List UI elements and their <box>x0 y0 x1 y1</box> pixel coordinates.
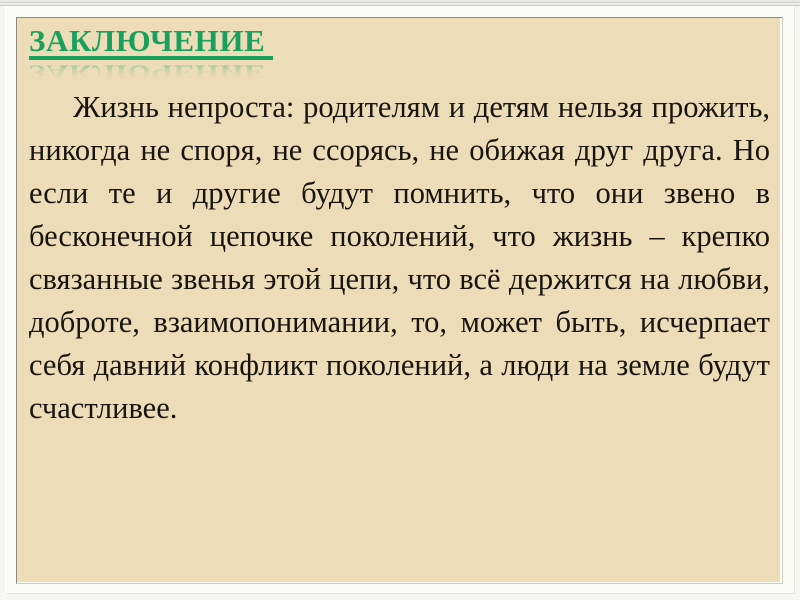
slide-title: ЗАКЛЮЧЕНИЕ <box>29 24 769 58</box>
slide-body-text: Жизнь непроста: родителям и детям нельзя… <box>29 86 770 473</box>
slide-canvas: ЗАКЛЮЧЕНИЕ ЗАКЛЮЧЕНИЕ Жизнь непроста: ро… <box>17 18 780 582</box>
slide-body-block: Жизнь непроста: родителям и детям нельзя… <box>29 86 770 473</box>
slide-title-block: ЗАКЛЮЧЕНИЕ ЗАКЛЮЧЕНИЕ <box>29 24 769 86</box>
presentation-slide: ЗАКЛЮЧЕНИЕ ЗАКЛЮЧЕНИЕ Жизнь непроста: ро… <box>0 0 800 600</box>
slide-title-reflection: ЗАКЛЮЧЕНИЕ <box>29 61 769 82</box>
